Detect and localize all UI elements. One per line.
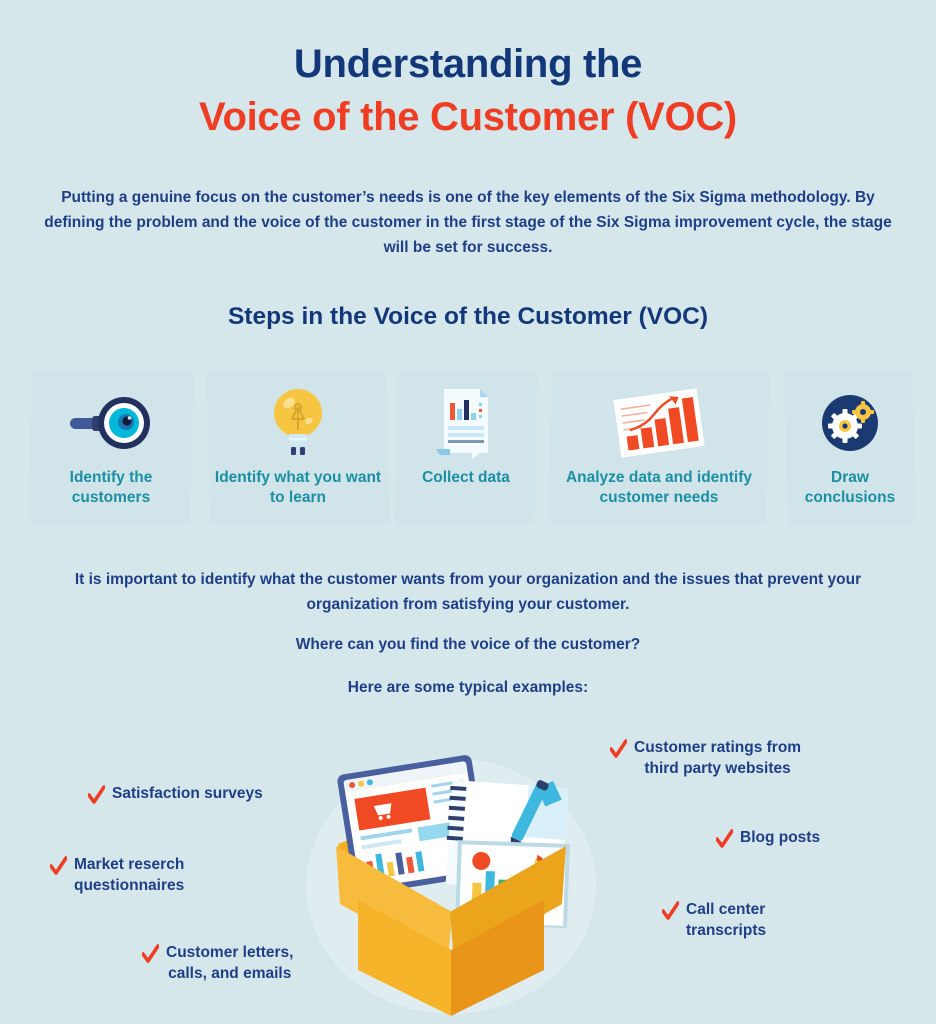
check-icon	[716, 829, 733, 849]
source-item-customer-letters: Customer letters, calls, and emails	[142, 943, 293, 984]
document-chart-icon	[434, 384, 498, 462]
source-label: Customer letters, calls, and emails	[166, 943, 293, 984]
source-label: Market reserch questionnaires	[74, 855, 184, 896]
source-item-blog-posts: Blog posts	[716, 828, 820, 849]
step-card-analyze-data[interactable]: Analyze data and identify customer needs	[550, 372, 768, 524]
source-item-market-research: Market reserch questionnaires	[50, 855, 184, 896]
source-item-call-center-transcripts: Call center transcripts	[662, 900, 766, 941]
source-label: Satisfaction surveys	[112, 784, 263, 805]
open-box-illustration	[296, 726, 606, 1018]
source-label: Customer ratings from third party websit…	[634, 738, 801, 779]
step-card-identify-what-to-learn[interactable]: Identify what you want to learn	[208, 372, 388, 524]
title-line-1: Understanding the	[0, 42, 936, 87]
where-question: Where can you find the voice of the cust…	[60, 636, 876, 654]
infographic-page: Understanding the Voice of the Customer …	[0, 0, 936, 1024]
source-label: Blog posts	[740, 828, 820, 849]
step-card-label: Draw conclusions	[786, 468, 914, 509]
bar-chart-growth-icon	[607, 384, 711, 462]
examples-lead: Here are some typical examples:	[60, 679, 876, 697]
step-card-label: Analyze data and identify customer needs	[550, 468, 768, 509]
step-card-draw-conclusions[interactable]: Draw conclusions	[786, 372, 914, 524]
check-icon	[610, 739, 627, 759]
intro-paragraph: Putting a genuine focus on the customer’…	[40, 185, 896, 260]
step-card-label: Collect data	[418, 468, 514, 488]
source-item-customer-ratings: Customer ratings from third party websit…	[610, 738, 801, 779]
importance-statement: It is important to identify what the cus…	[60, 567, 876, 617]
step-card-label: Identify what you want to learn	[208, 468, 388, 509]
step-card-collect-data[interactable]: Collect data	[396, 372, 536, 524]
check-icon	[662, 901, 679, 921]
steps-row: Identify the customers	[22, 372, 914, 528]
title-line-2: Voice of the Customer (VOC)	[0, 95, 936, 140]
check-icon	[88, 785, 105, 805]
check-icon	[142, 944, 159, 964]
magnifier-eye-icon	[68, 384, 154, 462]
page-title: Understanding the Voice of the Customer …	[0, 42, 936, 140]
check-icon	[50, 856, 67, 876]
lightbulb-icon	[268, 384, 328, 462]
gears-icon	[815, 384, 885, 462]
source-label: Call center transcripts	[686, 900, 766, 941]
step-card-label: Identify the customers	[30, 468, 192, 509]
step-card-identify-customers[interactable]: Identify the customers	[30, 372, 192, 524]
source-item-satisfaction-surveys: Satisfaction surveys	[88, 784, 263, 805]
steps-section-heading: Steps in the Voice of the Customer (VOC)	[0, 303, 936, 331]
